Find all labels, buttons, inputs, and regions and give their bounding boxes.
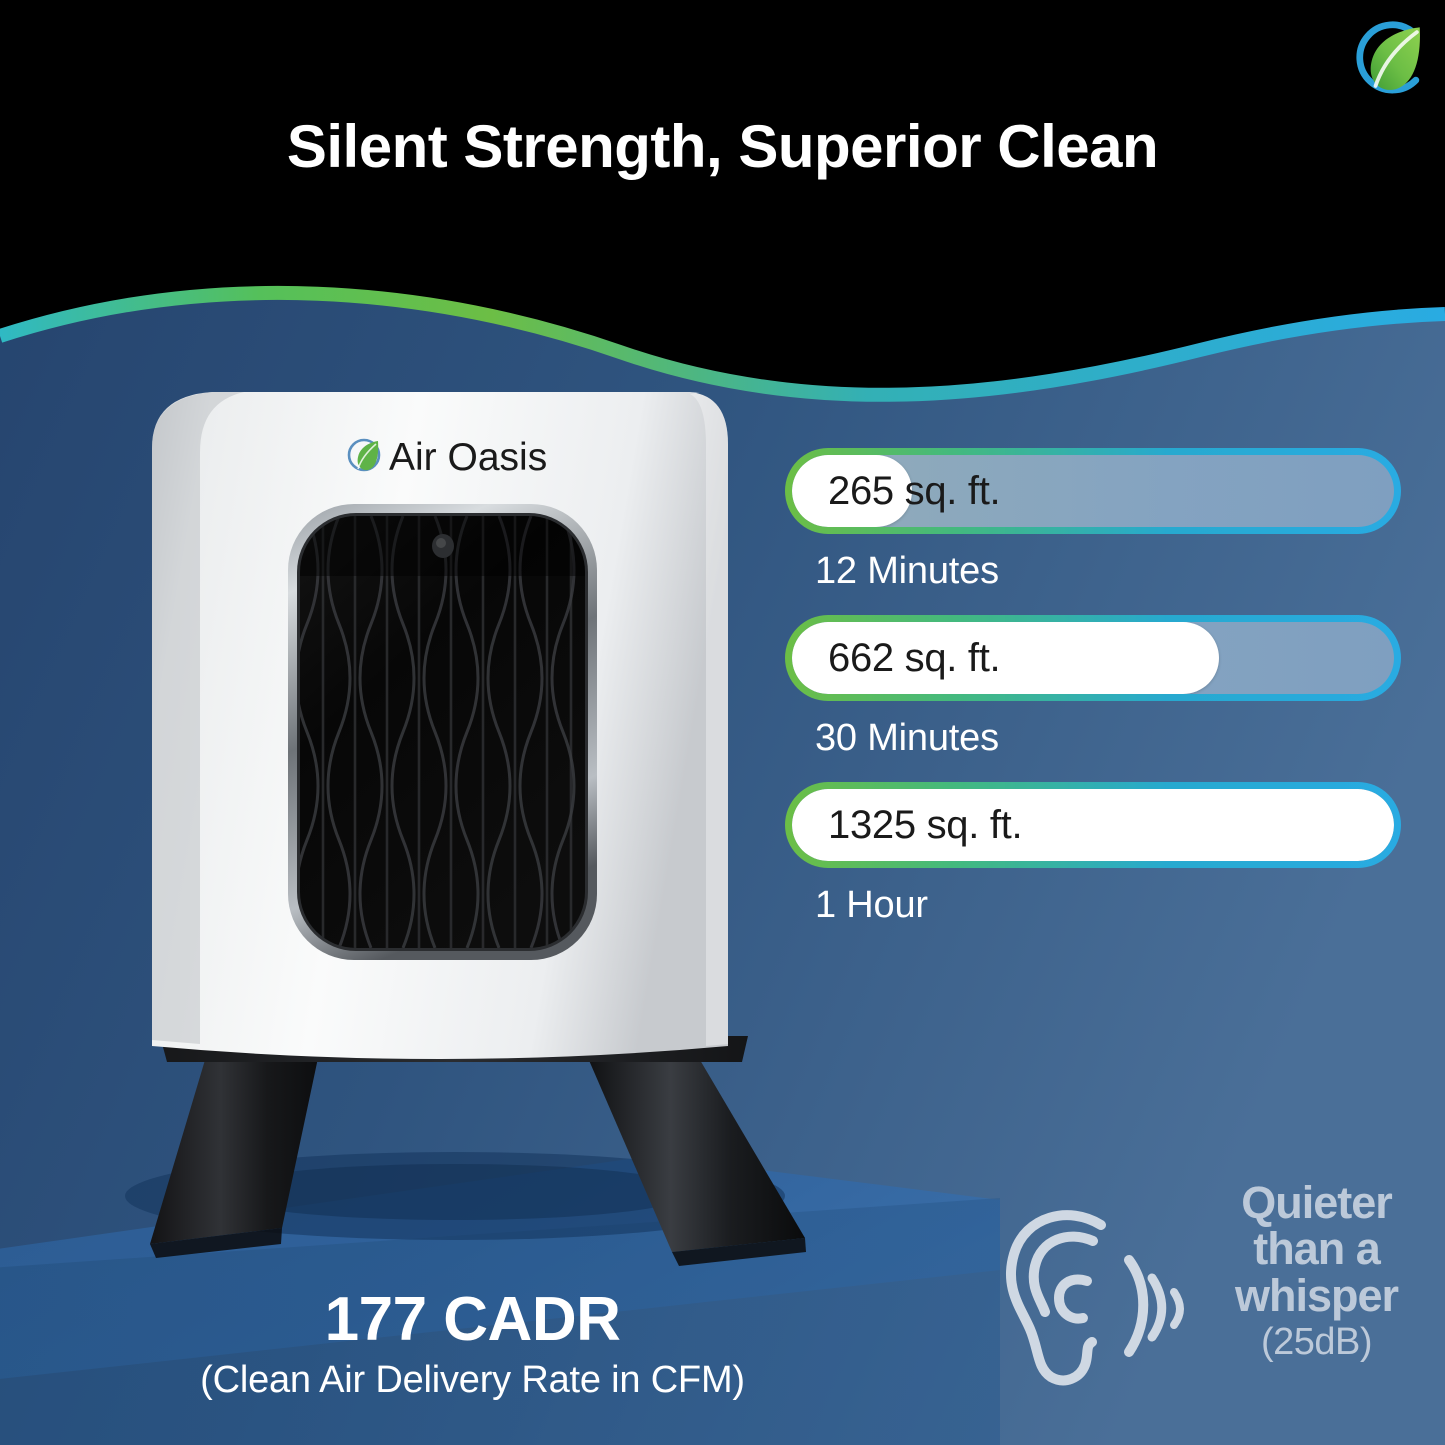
infographic-page: Silent Strength, Superior Clean [0,0,1445,1445]
cadr-subtitle: (Clean Air Delivery Rate in CFM) [60,1359,885,1402]
quiet-block: Quieter than a whisper (25dB) [985,1180,1430,1425]
coverage-bar-track: 662 sq. ft. [785,615,1401,701]
leaf-in-circle-logo [1341,11,1437,107]
coverage-bar-group: 265 sq. ft. 12 Minutes [785,448,1401,593]
coverage-bar-fill: 1325 sq. ft. [792,789,1394,861]
coverage-bar-track: 265 sq. ft. [785,448,1401,534]
cadr-block: 177 CADR (Clean Air Delivery Rate in CFM… [60,1288,885,1402]
coverage-bars: 265 sq. ft. 12 Minutes 662 sq. ft. 30 Mi… [785,448,1401,949]
coverage-bar-caption: 30 Minutes [815,717,1401,760]
cadr-value: 177 CADR [60,1288,885,1351]
coverage-bar-fill: 265 sq. ft. [792,455,912,527]
ear-with-sound-waves-icon [985,1188,1200,1403]
coverage-bar-track: 1325 sq. ft. [785,782,1401,868]
coverage-bar-caption: 12 Minutes [815,550,1401,593]
quiet-line-3: whisper [1203,1273,1430,1319]
coverage-bar-fill: 662 sq. ft. [792,622,1219,694]
coverage-bar-inner: 265 sq. ft. [792,455,1394,527]
coverage-bar-value: 1325 sq. ft. [828,803,1022,848]
quiet-line-2: than a [1203,1226,1430,1272]
coverage-bar-inner: 662 sq. ft. [792,622,1394,694]
coverage-bar-value: 662 sq. ft. [828,636,1000,681]
page-headline: Silent Strength, Superior Clean [0,112,1445,181]
quiet-line-1: Quieter [1203,1180,1430,1226]
coverage-bar-caption: 1 Hour [815,884,1401,927]
coverage-bar-value: 265 sq. ft. [828,469,1000,514]
coverage-bar-group: 662 sq. ft. 30 Minutes [785,615,1401,760]
quiet-text-block: Quieter than a whisper (25dB) [1203,1180,1430,1364]
coverage-bar-group: 1325 sq. ft. 1 Hour [785,782,1401,927]
quiet-decibels: (25dB) [1203,1321,1430,1364]
coverage-bar-inner: 1325 sq. ft. [792,789,1394,861]
